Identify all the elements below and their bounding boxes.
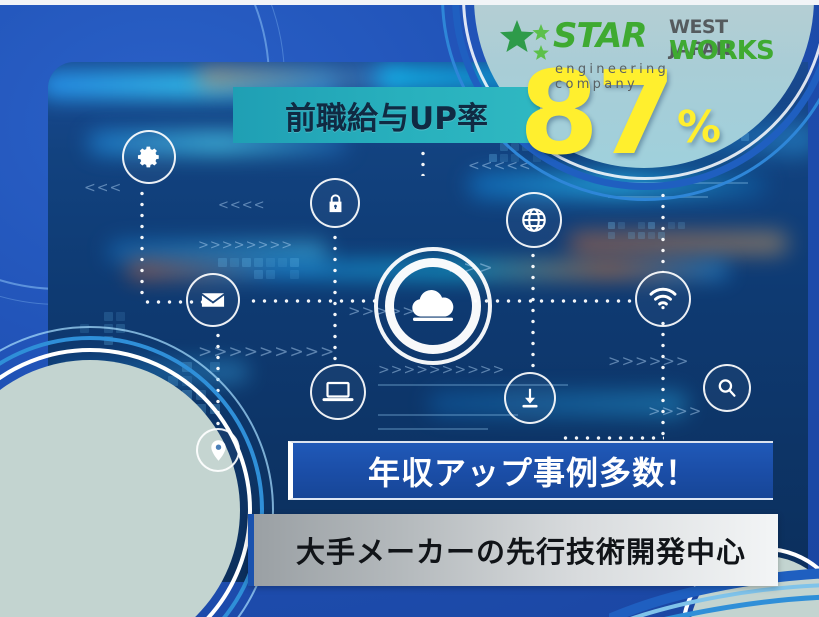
connector-line — [421, 148, 425, 176]
connector-line — [661, 190, 665, 272]
download-icon — [504, 372, 556, 424]
maker-development-banner: 大手メーカーの先行技術開発中心 — [248, 514, 778, 586]
logo-star-text: STAR — [553, 16, 647, 56]
chevron-row: <<< — [84, 180, 122, 196]
chevron-row: >>>>>> — [608, 352, 689, 370]
light-streak — [198, 68, 398, 88]
location-pin-icon — [196, 428, 240, 472]
chevron-row: <<<< — [218, 198, 266, 213]
wifi-icon — [635, 271, 691, 327]
logo-tagline: engineering company — [555, 62, 759, 92]
globe-icon — [506, 192, 562, 248]
income-up-text: 年収アップ事例多数！ — [368, 448, 698, 494]
gear-icon — [122, 130, 176, 184]
three-star-icon — [497, 18, 559, 68]
connector-line — [470, 299, 635, 303]
envelope-icon — [186, 273, 240, 327]
cloud-icon — [385, 258, 481, 354]
laptop-icon — [310, 364, 366, 420]
recruitment-banner: >>>>>>>> >>>>>>>>> >>> <<<< >>>>>> >>>>>… — [0, 0, 819, 617]
data-line — [378, 414, 518, 416]
search-icon — [703, 364, 751, 412]
income-up-banner: 年収アップ事例多数！ — [288, 441, 773, 500]
chevron-row: >>>> — [648, 402, 702, 420]
connector-line — [140, 188, 144, 300]
connector-line — [531, 250, 535, 372]
chevron-row: >>>>>>>> — [198, 238, 293, 253]
company-logo[interactable]: STAR WEST JAPAN WORKS engineering compan… — [497, 12, 759, 78]
light-streak — [568, 232, 788, 254]
stat-percent-symbol: % — [677, 106, 721, 150]
connector-line — [661, 318, 665, 438]
connector-line — [333, 232, 337, 364]
salary-up-rate-banner: 前職給与UP率 — [233, 87, 540, 143]
salary-up-rate-label: 前職給与UP率 — [285, 93, 488, 138]
top-white-strip — [0, 0, 819, 5]
lock-icon — [310, 178, 360, 228]
maker-development-text: 大手メーカーの先行技術開発中心 — [296, 529, 746, 571]
data-line — [378, 428, 488, 430]
chevron-row: >>>>>>>>>> — [378, 362, 505, 378]
connector-line — [560, 436, 664, 440]
connector-line — [248, 299, 378, 303]
